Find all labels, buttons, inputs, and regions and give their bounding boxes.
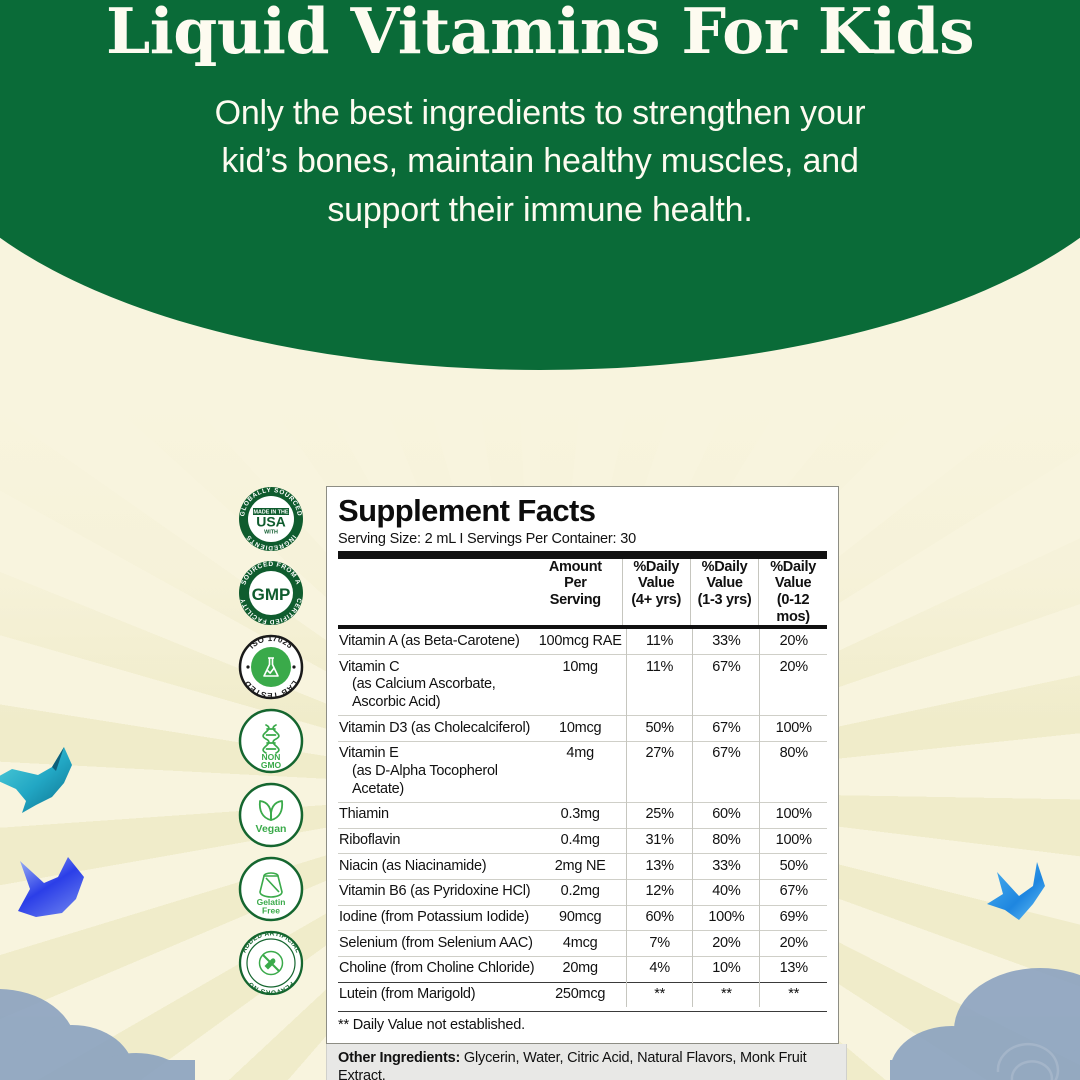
nutrient-name: Choline (from Choline Chloride) bbox=[338, 956, 534, 982]
table-row: Iodine (from Potassium Iodide)90mcg60%10… bbox=[338, 905, 827, 931]
daily-value-1to3: 33% bbox=[693, 629, 760, 654]
daily-value-0to12: 69% bbox=[760, 905, 827, 931]
table-row: Selenium (from Selenium AAC)4mcg7%20%20% bbox=[338, 931, 827, 957]
daily-value-1to3: 67% bbox=[693, 716, 760, 742]
bird-right-icon bbox=[975, 860, 1055, 940]
hero-green-band: Liquid Vitamins For Kids Only the best i… bbox=[0, 0, 1080, 370]
amount-per-serving: 10mg bbox=[534, 655, 626, 716]
daily-value-4plus: 4% bbox=[626, 956, 692, 982]
daily-value-1to3: 60% bbox=[693, 802, 760, 828]
table-row: Vitamin B6 (as Pyridoxine HCl)0.2mg12%40… bbox=[338, 879, 827, 905]
col-header-dv-0to12: %Daily Value (0-12 mos) bbox=[759, 559, 827, 626]
nutrient-name: Vitamin B6 (as Pyridoxine HCl) bbox=[338, 879, 534, 905]
table-row: Vitamin A (as Beta-Carotene)100mcg RAE11… bbox=[338, 629, 827, 654]
nutrient-name: Riboflavin bbox=[338, 828, 534, 854]
daily-value-1to3: ** bbox=[693, 982, 760, 1007]
svg-text:Vegan: Vegan bbox=[256, 823, 287, 835]
amount-per-serving: 90mcg bbox=[534, 905, 626, 931]
daily-value-4plus: 27% bbox=[626, 741, 692, 802]
svg-text:GMO: GMO bbox=[261, 760, 282, 770]
serving-size-line: Serving Size: 2 mL I Servings Per Contai… bbox=[338, 528, 827, 551]
supplement-facts-panel: Supplement Facts Serving Size: 2 mL I Se… bbox=[326, 486, 839, 1080]
table-row: Lutein (from Marigold)250mcg****** bbox=[338, 982, 827, 1007]
daily-value-4plus: 60% bbox=[626, 905, 692, 931]
table-row: Choline (from Choline Chloride)20mg4%10%… bbox=[338, 956, 827, 982]
col-header-nutrient bbox=[338, 559, 529, 626]
daily-value-4plus: 7% bbox=[626, 931, 692, 957]
col-header-dv-4plus: %Daily Value (4+ yrs) bbox=[622, 559, 690, 626]
supplement-facts-box: Supplement Facts Serving Size: 2 mL I Se… bbox=[326, 486, 839, 1044]
col-header-amount-per-serving: Amount Per Serving bbox=[529, 559, 622, 626]
daily-value-4plus: ** bbox=[626, 982, 692, 1007]
nutrient-name: Vitamin D3 (as Cholecalciferol) bbox=[338, 716, 534, 742]
table-row: Vitamin C(as Calcium Ascorbate, Ascorbic… bbox=[338, 655, 827, 716]
table-row: Vitamin E(as D-Alpha Tocopherol Acetate)… bbox=[338, 741, 827, 802]
cloud-right-decoration bbox=[890, 960, 1080, 1080]
daily-value-1to3: 80% bbox=[693, 828, 760, 854]
table-header-row: Amount Per Serving %Daily Value (4+ yrs)… bbox=[338, 559, 827, 626]
supplement-facts-table: Amount Per Serving %Daily Value (4+ yrs)… bbox=[338, 559, 827, 626]
bird-blue-icon bbox=[14, 855, 92, 945]
daily-value-4plus: 25% bbox=[626, 802, 692, 828]
svg-text:GMP: GMP bbox=[252, 585, 291, 604]
bird-teal-icon bbox=[0, 745, 87, 835]
no-artificial-flavors-badge: ADDED ARTIFICIAL FLAVORS NO bbox=[238, 930, 304, 996]
daily-value-4plus: 11% bbox=[626, 629, 692, 654]
gelatin-free-badge: Gelatin Free bbox=[238, 856, 304, 922]
amount-per-serving: 20mg bbox=[534, 956, 626, 982]
amount-per-serving: 4mg bbox=[534, 741, 626, 802]
daily-value-4plus: 50% bbox=[626, 716, 692, 742]
daily-value-footnote: ** Daily Value not established. bbox=[338, 1011, 827, 1033]
nutrient-name: Niacin (as Niacinamide) bbox=[338, 854, 534, 880]
gmp-badge: SOURCED FROM A CERTIFIED FACILITY GMP bbox=[238, 560, 304, 626]
daily-value-1to3: 40% bbox=[693, 879, 760, 905]
page-canvas: Liquid Vitamins For Kids Only the best i… bbox=[0, 0, 1080, 1080]
daily-value-0to12: 20% bbox=[760, 629, 827, 654]
table-row: Vitamin D3 (as Cholecalciferol)10mcg50%6… bbox=[338, 716, 827, 742]
daily-value-0to12: 80% bbox=[760, 741, 827, 802]
certification-badge-column: GLOBALLY SOURCED INGREDIENTS MADE IN THE… bbox=[238, 486, 306, 996]
daily-value-0to12: 67% bbox=[760, 879, 827, 905]
nutrient-name: Vitamin A (as Beta-Carotene) bbox=[338, 629, 534, 654]
daily-value-0to12: 20% bbox=[760, 655, 827, 716]
table-row: Thiamin0.3mg25%60%100% bbox=[338, 802, 827, 828]
page-title: Liquid Vitamins For Kids bbox=[0, 0, 1080, 63]
nutrient-name: Vitamin E(as D-Alpha Tocopherol Acetate) bbox=[338, 741, 534, 802]
daily-value-1to3: 67% bbox=[693, 741, 760, 802]
daily-value-4plus: 31% bbox=[626, 828, 692, 854]
made-in-usa-badge: GLOBALLY SOURCED INGREDIENTS MADE IN THE… bbox=[238, 486, 304, 552]
daily-value-0to12: 13% bbox=[760, 956, 827, 982]
nutrient-name: Thiamin bbox=[338, 802, 534, 828]
amount-per-serving: 10mcg bbox=[534, 716, 626, 742]
svg-text:Free: Free bbox=[262, 906, 280, 916]
daily-value-1to3: 10% bbox=[693, 956, 760, 982]
daily-value-0to12: 100% bbox=[760, 802, 827, 828]
col-header-dv-1to3: %Daily Value (1-3 yrs) bbox=[690, 559, 758, 626]
non-gmo-badge: NON GMO bbox=[238, 708, 304, 774]
daily-value-0to12: 20% bbox=[760, 931, 827, 957]
daily-value-4plus: 12% bbox=[626, 879, 692, 905]
nutrient-name: Iodine (from Potassium Iodide) bbox=[338, 905, 534, 931]
supplement-facts-body: Vitamin A (as Beta-Carotene)100mcg RAE11… bbox=[338, 629, 827, 1007]
nutrient-source: (as D-Alpha Tocopherol Acetate) bbox=[339, 763, 534, 798]
daily-value-0to12: 100% bbox=[760, 828, 827, 854]
daily-value-0to12: 100% bbox=[760, 716, 827, 742]
supplement-facts-title: Supplement Facts bbox=[338, 495, 827, 528]
iso-lab-tested-badge: ISO 17025 LAB TESTED bbox=[238, 634, 304, 700]
svg-text:USA: USA bbox=[256, 514, 286, 530]
daily-value-1to3: 100% bbox=[693, 905, 760, 931]
rule-thick-top bbox=[338, 551, 827, 559]
daily-value-0to12: 50% bbox=[760, 854, 827, 880]
daily-value-4plus: 13% bbox=[626, 854, 692, 880]
daily-value-1to3: 20% bbox=[693, 931, 760, 957]
amount-per-serving: 100mcg RAE bbox=[534, 629, 626, 654]
table-row: Riboflavin0.4mg31%80%100% bbox=[338, 828, 827, 854]
daily-value-0to12: ** bbox=[760, 982, 827, 1007]
vegan-badge: Vegan bbox=[238, 782, 304, 848]
svg-text:WITH: WITH bbox=[264, 530, 278, 536]
nutrient-name: Selenium (from Selenium AAC) bbox=[338, 931, 534, 957]
daily-value-4plus: 11% bbox=[626, 655, 692, 716]
amount-per-serving: 0.4mg bbox=[534, 828, 626, 854]
daily-value-1to3: 33% bbox=[693, 854, 760, 880]
amount-per-serving: 0.2mg bbox=[534, 879, 626, 905]
amount-per-serving: 0.3mg bbox=[534, 802, 626, 828]
table-row: Niacin (as Niacinamide)2mg NE13%33%50% bbox=[338, 854, 827, 880]
amount-per-serving: 4mcg bbox=[534, 931, 626, 957]
nutrient-name: Vitamin C(as Calcium Ascorbate, Ascorbic… bbox=[338, 655, 534, 716]
page-subtitle: Only the best ingredients to strengthen … bbox=[190, 89, 890, 234]
nutrient-name: Lutein (from Marigold) bbox=[338, 982, 534, 1007]
amount-per-serving: 250mcg bbox=[534, 982, 626, 1007]
other-ingredients-box: Other Ingredients: Glycerin, Water, Citr… bbox=[326, 1044, 847, 1080]
cloud-left-decoration bbox=[0, 965, 200, 1080]
nutrient-source: (as Calcium Ascorbate, Ascorbic Acid) bbox=[339, 676, 534, 711]
amount-per-serving: 2mg NE bbox=[534, 854, 626, 880]
other-ingredients-label: Other Ingredients: bbox=[338, 1050, 460, 1066]
daily-value-1to3: 67% bbox=[693, 655, 760, 716]
